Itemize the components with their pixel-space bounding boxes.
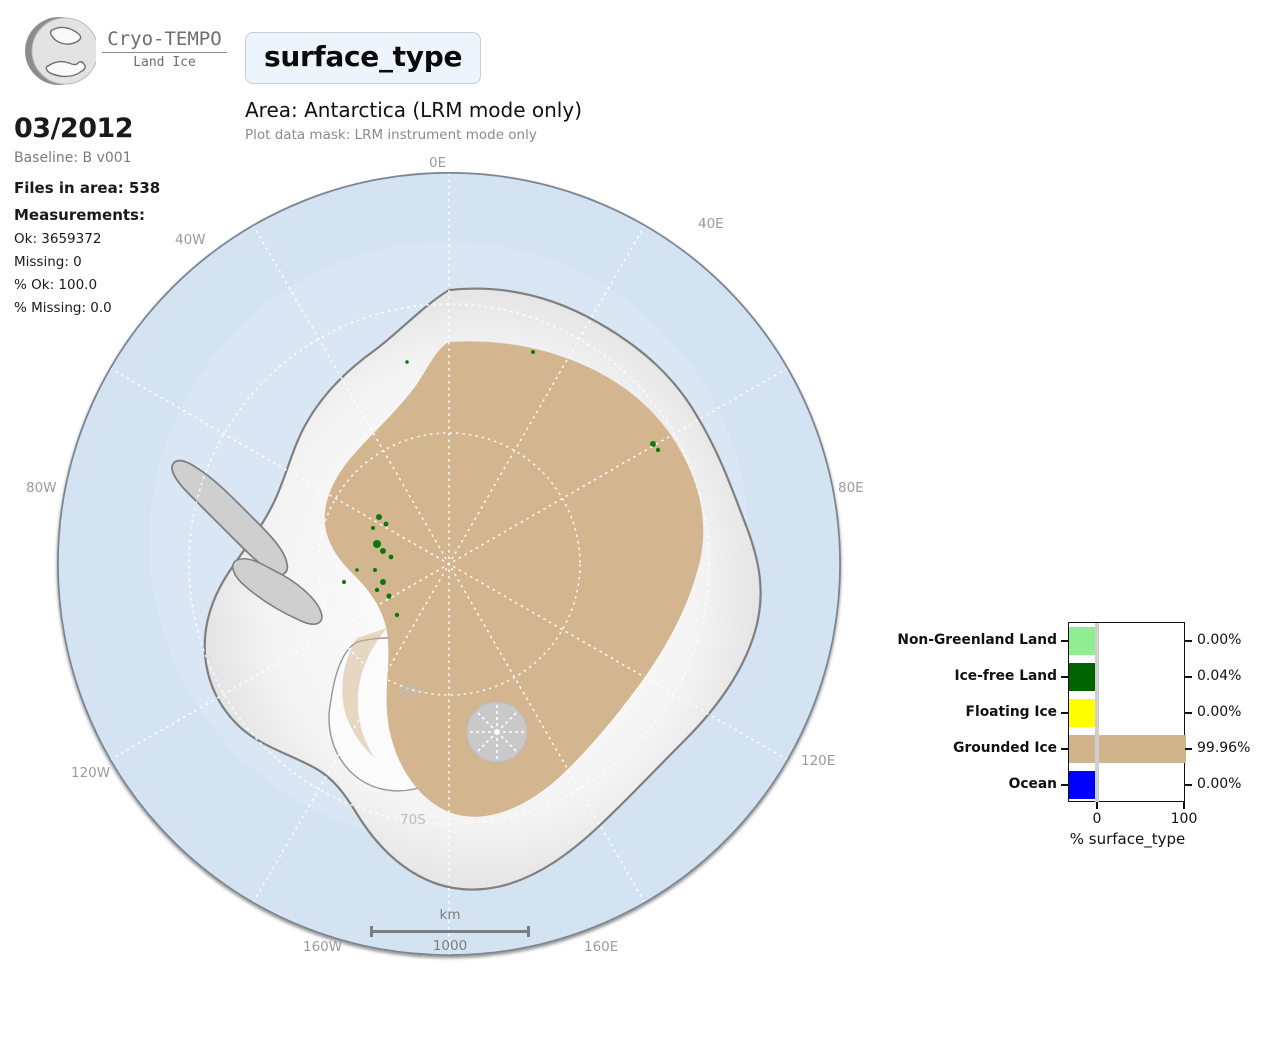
- mask-subtitle: Plot data mask: LRM instrument mode only: [245, 126, 537, 145]
- scale-bar: km 1000: [370, 907, 530, 955]
- area-title: Area: Antarctica (LRM mode only): [245, 97, 582, 123]
- lon-label-120e: 120E: [801, 753, 835, 769]
- date-label: 03/2012: [14, 112, 229, 146]
- value-tick-2: [1185, 712, 1192, 714]
- value-tick-4: [1185, 784, 1192, 786]
- lon-label-80w: 80W: [26, 480, 57, 496]
- chart-plot-area: [1068, 622, 1185, 802]
- x-tick-label-1: 100: [1159, 811, 1209, 827]
- value-label-4: 0.00%: [1197, 776, 1241, 792]
- antarctica-map[interactable]: 70S 80S km 1000 0E 40E 80E 120E 160E 160…: [57, 172, 841, 956]
- value-label-2: 0.00%: [1197, 704, 1241, 720]
- lon-label-160w: 160W: [303, 939, 342, 955]
- category-tick-2: [1061, 712, 1068, 714]
- zero-axis-line: [1095, 623, 1099, 803]
- surface-type-bar-chart[interactable]: Non-Greenland LandIce-free LandFloating …: [895, 614, 1255, 844]
- scale-bar-line: [370, 926, 530, 936]
- category-tick-1: [1061, 676, 1068, 678]
- map-disc: 70S 80S km 1000: [57, 172, 841, 956]
- category-label-1: Ice-free Land: [954, 668, 1057, 684]
- value-label-0: 0.00%: [1197, 632, 1241, 648]
- scale-bar-length: 1000: [370, 937, 530, 955]
- logo-subtitle: Land Ice: [102, 55, 227, 71]
- category-label-4: Ocean: [1009, 776, 1057, 792]
- cryo-tempo-logo: Cryo-TEMPO Land Ice: [14, 10, 229, 92]
- value-tick-3: [1185, 748, 1192, 750]
- lon-label-160e: 160E: [584, 939, 618, 955]
- scale-bar-units: km: [370, 907, 530, 924]
- legend-swatch-2: [1069, 699, 1095, 727]
- category-tick-3: [1061, 748, 1068, 750]
- category-tick-4: [1061, 784, 1068, 786]
- value-tick-1: [1185, 676, 1192, 678]
- logo-title: Cryo-TEMPO: [102, 28, 227, 50]
- chart-x-axis-title: % surface_type: [1035, 830, 1220, 848]
- globe-icon: [22, 14, 96, 88]
- value-label-1: 0.04%: [1197, 668, 1241, 684]
- lon-label-80e: 80E: [838, 480, 864, 496]
- legend-swatch-3: [1069, 735, 1095, 763]
- lon-label-120w: 120W: [71, 765, 110, 781]
- lon-label-40w: 40W: [175, 232, 206, 248]
- legend-swatch-0: [1069, 627, 1095, 655]
- x-tick-0: [1096, 802, 1098, 809]
- x-tick-1: [1183, 802, 1185, 809]
- category-tick-0: [1061, 640, 1068, 642]
- legend-swatch-1: [1069, 663, 1095, 691]
- lat-label-70s: 70S: [400, 812, 426, 828]
- lon-label-40e: 40E: [698, 216, 724, 232]
- category-label-0: Non-Greenland Land: [897, 632, 1057, 648]
- x-tick-label-0: 0: [1072, 811, 1122, 827]
- baseline-label: Baseline: B v001: [14, 147, 229, 169]
- parameter-badge[interactable]: surface_type: [245, 32, 481, 84]
- value-tick-0: [1185, 640, 1192, 642]
- value-bar-3: [1099, 735, 1186, 763]
- category-label-3: Grounded Ice: [953, 740, 1057, 756]
- map-graticule-and-continent: [57, 172, 841, 956]
- lat-label-80s: 80S: [400, 684, 426, 700]
- legend-swatch-4: [1069, 771, 1095, 799]
- lon-label-0e: 0E: [429, 155, 446, 171]
- category-label-2: Floating Ice: [966, 704, 1057, 720]
- logo-divider: [102, 52, 227, 53]
- value-label-3: 99.96%: [1197, 740, 1250, 756]
